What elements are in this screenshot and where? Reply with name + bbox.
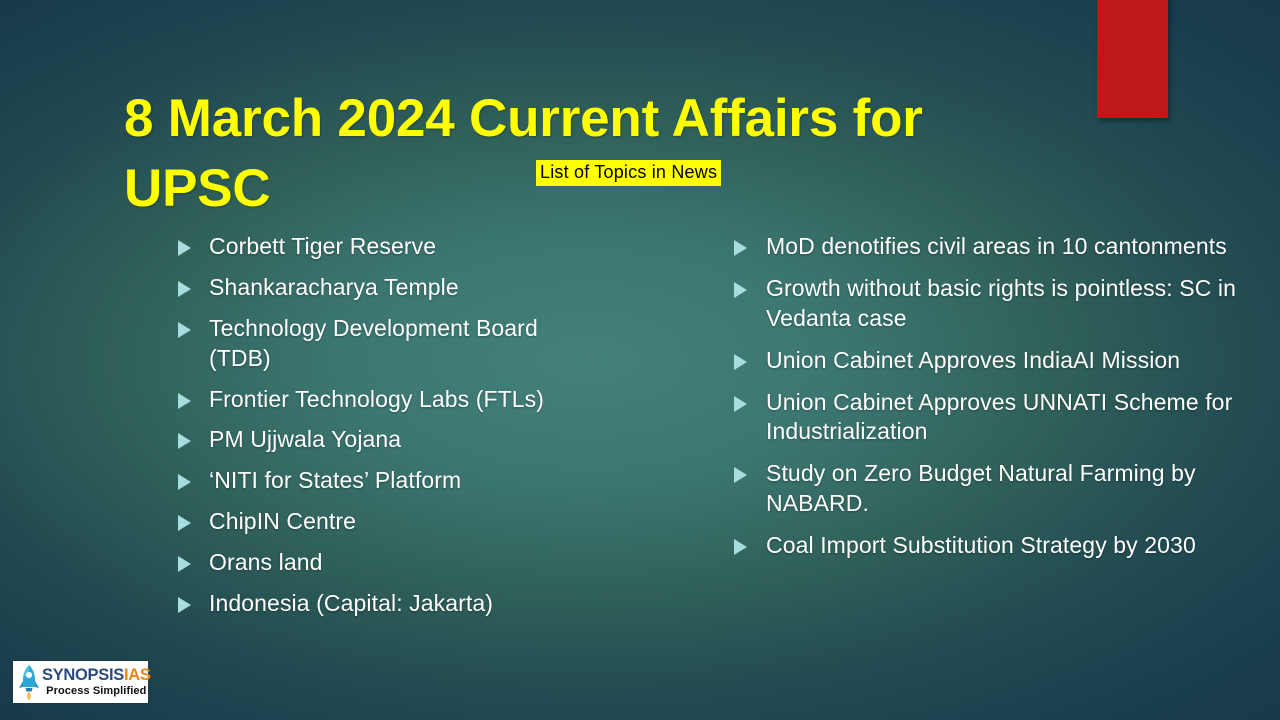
list-item-label: PM Ujjwala Yojana — [209, 426, 401, 452]
list-item-label: ChipIN Centre — [209, 508, 356, 534]
list-item: Frontier Technology Labs (FTLs) — [170, 385, 590, 415]
list-item: Study on Zero Budget Natural Farming by … — [726, 459, 1246, 519]
triangle-bullet-icon — [734, 240, 747, 256]
triangle-bullet-icon — [734, 396, 747, 412]
triangle-bullet-icon — [178, 281, 191, 297]
left-topics-column: Corbett Tiger Reserve Shankaracharya Tem… — [170, 232, 590, 630]
logo-name-line: SYNOPSISIAS — [42, 667, 151, 684]
list-item: Technology Development Board (TDB) — [170, 314, 590, 374]
list-item-label: Technology Development Board (TDB) — [209, 315, 538, 371]
list-item-label: Orans land — [209, 549, 323, 575]
triangle-bullet-icon — [178, 597, 191, 613]
logo-name-secondary: IAS — [124, 666, 151, 684]
slide-canvas: 8 March 2024 Current Affairs for UPSC Li… — [0, 0, 1280, 720]
list-item: Union Cabinet Approves IndiaAI Mission — [726, 346, 1246, 376]
list-item-label: Union Cabinet Approves UNNATI Scheme for… — [766, 389, 1232, 445]
triangle-bullet-icon — [178, 240, 191, 256]
list-item: Indonesia (Capital: Jakarta) — [170, 589, 590, 619]
triangle-bullet-icon — [178, 433, 191, 449]
triangle-bullet-icon — [734, 467, 747, 483]
logo-tagline: Process Simplified — [42, 686, 151, 697]
subtitle-highlight: List of Topics in News — [536, 160, 721, 186]
list-item-label: ‘NITI for States’ Platform — [209, 467, 461, 493]
list-item-label: Union Cabinet Approves IndiaAI Mission — [766, 347, 1180, 373]
list-item: ‘NITI for States’ Platform — [170, 466, 590, 496]
list-item: Growth without basic rights is pointless… — [726, 274, 1246, 334]
list-item: Corbett Tiger Reserve — [170, 232, 590, 262]
rocket-icon — [16, 663, 42, 701]
list-item-label: Coal Import Substitution Strategy by 203… — [766, 532, 1196, 558]
list-item: MoD denotifies civil areas in 10 cantonm… — [726, 232, 1246, 262]
logo-name-primary: SYNOPSIS — [42, 666, 124, 684]
list-item: Coal Import Substitution Strategy by 203… — [726, 531, 1246, 561]
triangle-bullet-icon — [178, 322, 191, 338]
list-item: Shankaracharya Temple — [170, 273, 590, 303]
triangle-bullet-icon — [178, 556, 191, 572]
triangle-bullet-icon — [734, 539, 747, 555]
triangle-bullet-icon — [178, 474, 191, 490]
list-item-label: Frontier Technology Labs (FTLs) — [209, 386, 544, 412]
list-item-label: MoD denotifies civil areas in 10 cantonm… — [766, 233, 1227, 259]
page-title: 8 March 2024 Current Affairs for UPSC — [124, 84, 1004, 225]
triangle-bullet-icon — [734, 354, 747, 370]
list-item-label: Study on Zero Budget Natural Farming by … — [766, 460, 1196, 516]
triangle-bullet-icon — [178, 393, 191, 409]
brand-logo: SYNOPSISIAS Process Simplified — [13, 661, 148, 703]
list-item: Union Cabinet Approves UNNATI Scheme for… — [726, 388, 1246, 448]
logo-wordmark: SYNOPSISIAS Process Simplified — [42, 667, 154, 697]
list-item-label: Shankaracharya Temple — [209, 274, 459, 300]
triangle-bullet-icon — [178, 515, 191, 531]
subtitle-container: List of Topics in News — [536, 160, 721, 186]
red-accent-bar — [1097, 0, 1168, 118]
list-item: PM Ujjwala Yojana — [170, 425, 590, 455]
right-topics-column: MoD denotifies civil areas in 10 cantonm… — [726, 232, 1246, 573]
left-topics-list: Corbett Tiger Reserve Shankaracharya Tem… — [170, 232, 590, 619]
triangle-bullet-icon — [734, 282, 747, 298]
list-item-label: Growth without basic rights is pointless… — [766, 275, 1236, 331]
list-item: Orans land — [170, 548, 590, 578]
list-item-label: Indonesia (Capital: Jakarta) — [209, 590, 493, 616]
right-topics-list: MoD denotifies civil areas in 10 cantonm… — [726, 232, 1246, 561]
list-item: ChipIN Centre — [170, 507, 590, 537]
list-item-label: Corbett Tiger Reserve — [209, 233, 436, 259]
